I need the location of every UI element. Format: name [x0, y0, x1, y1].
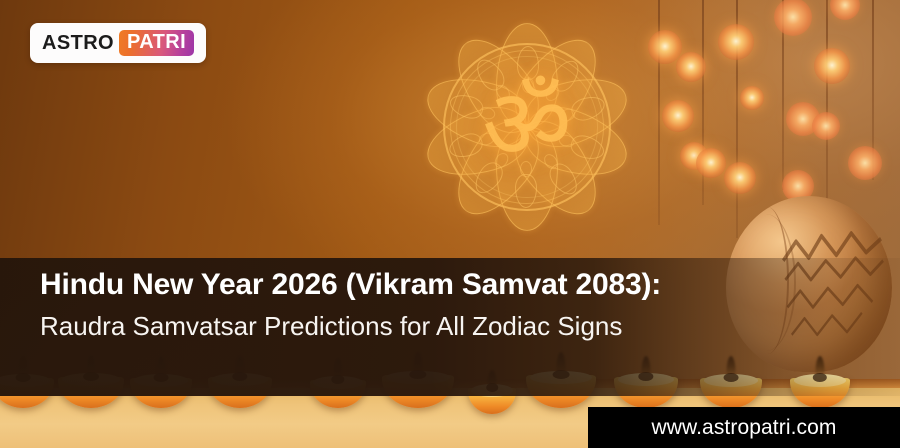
website-url-text: www.astropatri.com	[651, 416, 836, 440]
website-url-badge[interactable]: www.astropatri.com	[588, 407, 900, 448]
mandala-om-graphic: ॐ	[408, 8, 646, 246]
banner-title: Hindu New Year 2026 (Vikram Samvat 2083)…	[40, 266, 900, 304]
caption-text-block: Hindu New Year 2026 (Vikram Samvat 2083)…	[40, 266, 900, 344]
om-symbol-icon: ॐ	[482, 76, 571, 174]
logo-word-astro: ASTRO	[42, 32, 114, 55]
logo-word-patri: PATRI	[119, 30, 194, 56]
festival-banner: ॐ	[0, 0, 900, 448]
brand-logo[interactable]: ASTRO PATRI	[30, 23, 206, 63]
banner-subtitle: Raudra Samvatsar Predictions for All Zod…	[40, 310, 900, 344]
string-lights	[640, 0, 900, 240]
